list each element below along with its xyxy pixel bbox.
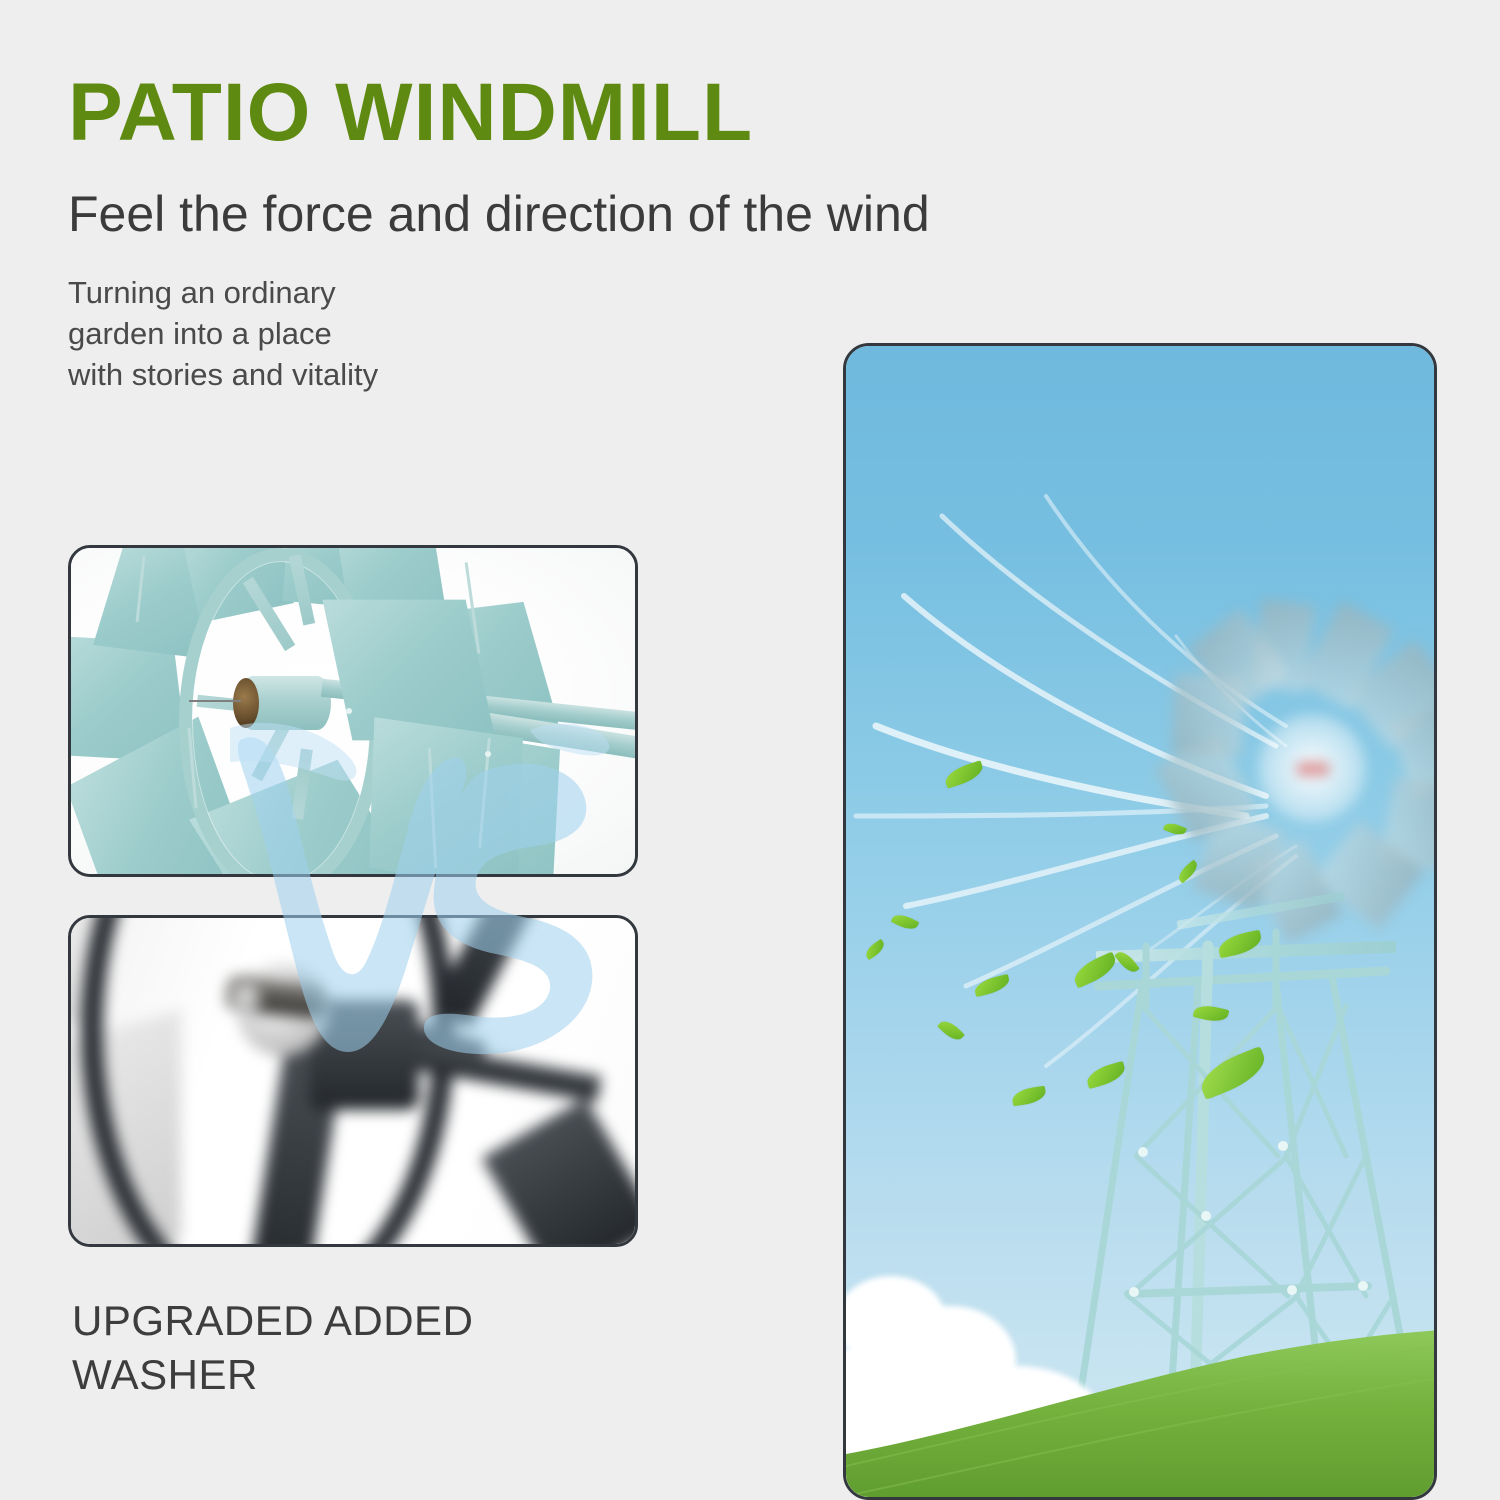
feature-caption: UPGRADED ADDED WASHER: [72, 1294, 473, 1402]
upgraded-washer-closeup-photo: [71, 918, 635, 1244]
windmill-hub-closeup-card: [68, 545, 638, 877]
description-text: Turning an ordinary garden into a place …: [68, 272, 378, 396]
description-line-2: garden into a place: [68, 313, 378, 354]
description-line-3: with stories and vitality: [68, 354, 378, 395]
product-infographic: PATIO WINDMILL Feel the force and direct…: [0, 0, 1500, 1500]
windmill-hub-closeup-photo: [71, 548, 635, 874]
grass-hill: [846, 346, 1434, 1497]
page-title: PATIO WINDMILL: [68, 72, 753, 154]
description-line-1: Turning an ordinary: [68, 272, 378, 313]
feature-caption-line-2: WASHER: [72, 1348, 473, 1402]
windmill-scene-card: [843, 343, 1437, 1500]
windmill-scene-photo: [846, 346, 1434, 1497]
page-subtitle: Feel the force and direction of the wind: [68, 186, 930, 244]
upgraded-washer-closeup-card: [68, 915, 638, 1247]
feature-caption-line-1: UPGRADED ADDED: [72, 1294, 473, 1348]
